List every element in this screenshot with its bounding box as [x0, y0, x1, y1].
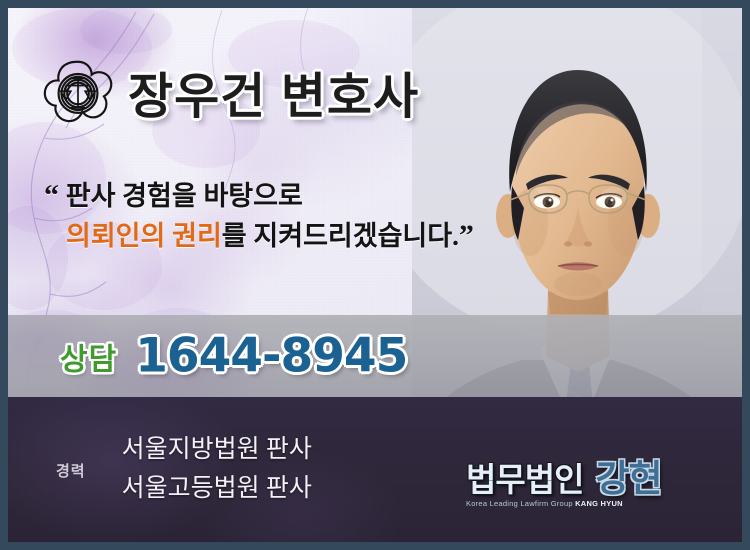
page-title: 장우건 변호사: [128, 57, 419, 128]
firm-logo[interactable]: 법무법인 강현 Korea Leading Lawfirm Group KANG…: [466, 448, 716, 508]
phone-number[interactable]: 1644-8945: [135, 329, 407, 384]
open-quote-mark: “: [44, 179, 59, 212]
consultation-label: 상담: [60, 334, 117, 378]
firm-logo-subtitle-lead: Korea Leading Lawfirm Group: [466, 499, 575, 508]
career-item: 서울지방법원 판사: [122, 431, 312, 470]
tagline-line-1: 판사 경험을 바탕으로: [66, 181, 303, 211]
scales-of-justice-blossom-emblem: [42, 56, 114, 128]
lawyer-advertisement-banner: 장우건 변호사 “ 판사 경험을 바탕으로 의뢰인의 권리를 지켜드리겠습니다.…: [0, 0, 750, 550]
career-label: 경력: [56, 458, 86, 481]
tagline-highlight: 의뢰인의 권리: [66, 221, 222, 251]
firm-logo-subtitle-name: KANG HYUN: [575, 499, 623, 508]
contact-row[interactable]: 상담 1644-8945: [60, 329, 407, 384]
career-list: 서울지방법원 판사 서울고등법원 판사: [122, 431, 312, 509]
tagline-line-2-rest: 를 지켜드리겠습니다.: [222, 221, 459, 251]
firm-logo-subtitle: Korea Leading Lawfirm Group KANG HYUN: [466, 499, 716, 508]
firm-logo-prefix: 법무법인: [466, 453, 583, 501]
contact-band: 상담 1644-8945: [8, 315, 742, 397]
firm-logo-main: 법무법인 강현: [466, 448, 716, 502]
close-quote-mark: ”: [459, 219, 474, 252]
headline-row: 장우건 변호사: [42, 56, 419, 128]
tagline: “ 판사 경험을 바탕으로 의뢰인의 권리를 지켜드리겠습니다.”: [44, 176, 474, 255]
career-item: 서울고등법원 판사: [122, 470, 312, 509]
firm-logo-name: 강현: [595, 448, 661, 502]
